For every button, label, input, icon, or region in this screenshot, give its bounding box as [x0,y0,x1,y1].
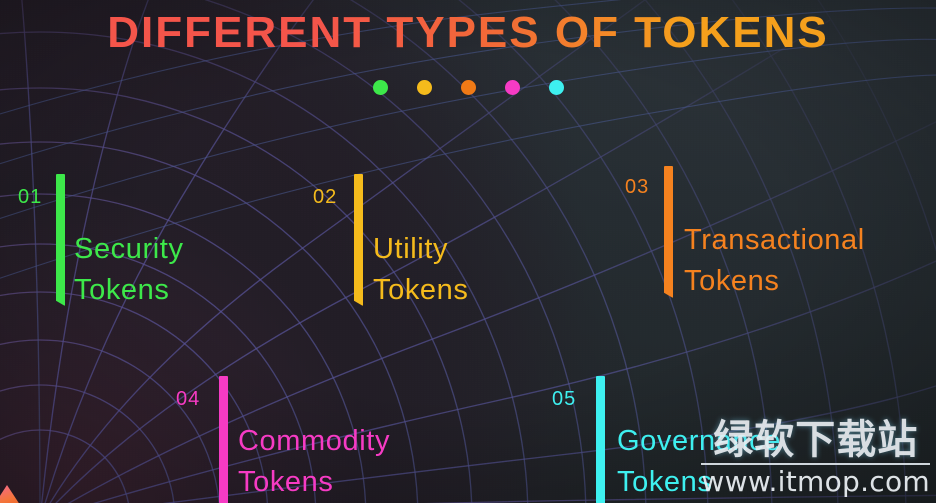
item-accent-bar-02 [354,174,363,306]
dot-yellow [417,80,432,95]
item-number-05: 05 [552,388,576,411]
dot-cyan [549,80,564,95]
item-label-03: TransactionalTokens [684,220,865,302]
item-label-line2-02: Tokens [373,270,469,311]
item-label-02: UtilityTokens [373,229,469,311]
infographic-canvas: DIFFERENT TYPES OF TOKENS 01SecurityToke… [0,0,936,503]
item-label-line2-03: Tokens [684,261,865,302]
item-accent-bar-01 [56,174,65,306]
dot-green [373,80,388,95]
page-title: DIFFERENT TYPES OF TOKENS [107,8,828,58]
item-label-04: CommodityTokens [238,421,390,503]
item-number-04: 04 [176,388,200,411]
item-label-line1-04: Commodity [238,421,390,462]
item-number-01: 01 [18,186,42,209]
item-number-02: 02 [313,186,337,209]
watermark-site-name: 绿软下载站 [701,418,930,462]
item-number-03: 03 [625,176,649,199]
item-accent-bar-04 [219,376,228,503]
dot-magenta [505,80,520,95]
title-container: DIFFERENT TYPES OF TOKENS [0,8,936,58]
item-label-01: SecurityTokens [74,229,184,311]
watermark-url: www.itmop.com [701,467,930,497]
dot-orange [461,80,476,95]
item-label-line2-04: Tokens [238,462,390,503]
item-label-line1-01: Security [74,229,184,270]
item-label-line1-02: Utility [373,229,469,270]
color-legend-dots [0,80,936,95]
item-label-line1-03: Transactional [684,220,865,261]
item-accent-bar-05 [596,376,605,503]
item-label-line2-01: Tokens [74,270,184,311]
watermark: 绿软下载站 www.itmop.com [701,418,930,497]
item-accent-bar-03 [664,166,673,298]
